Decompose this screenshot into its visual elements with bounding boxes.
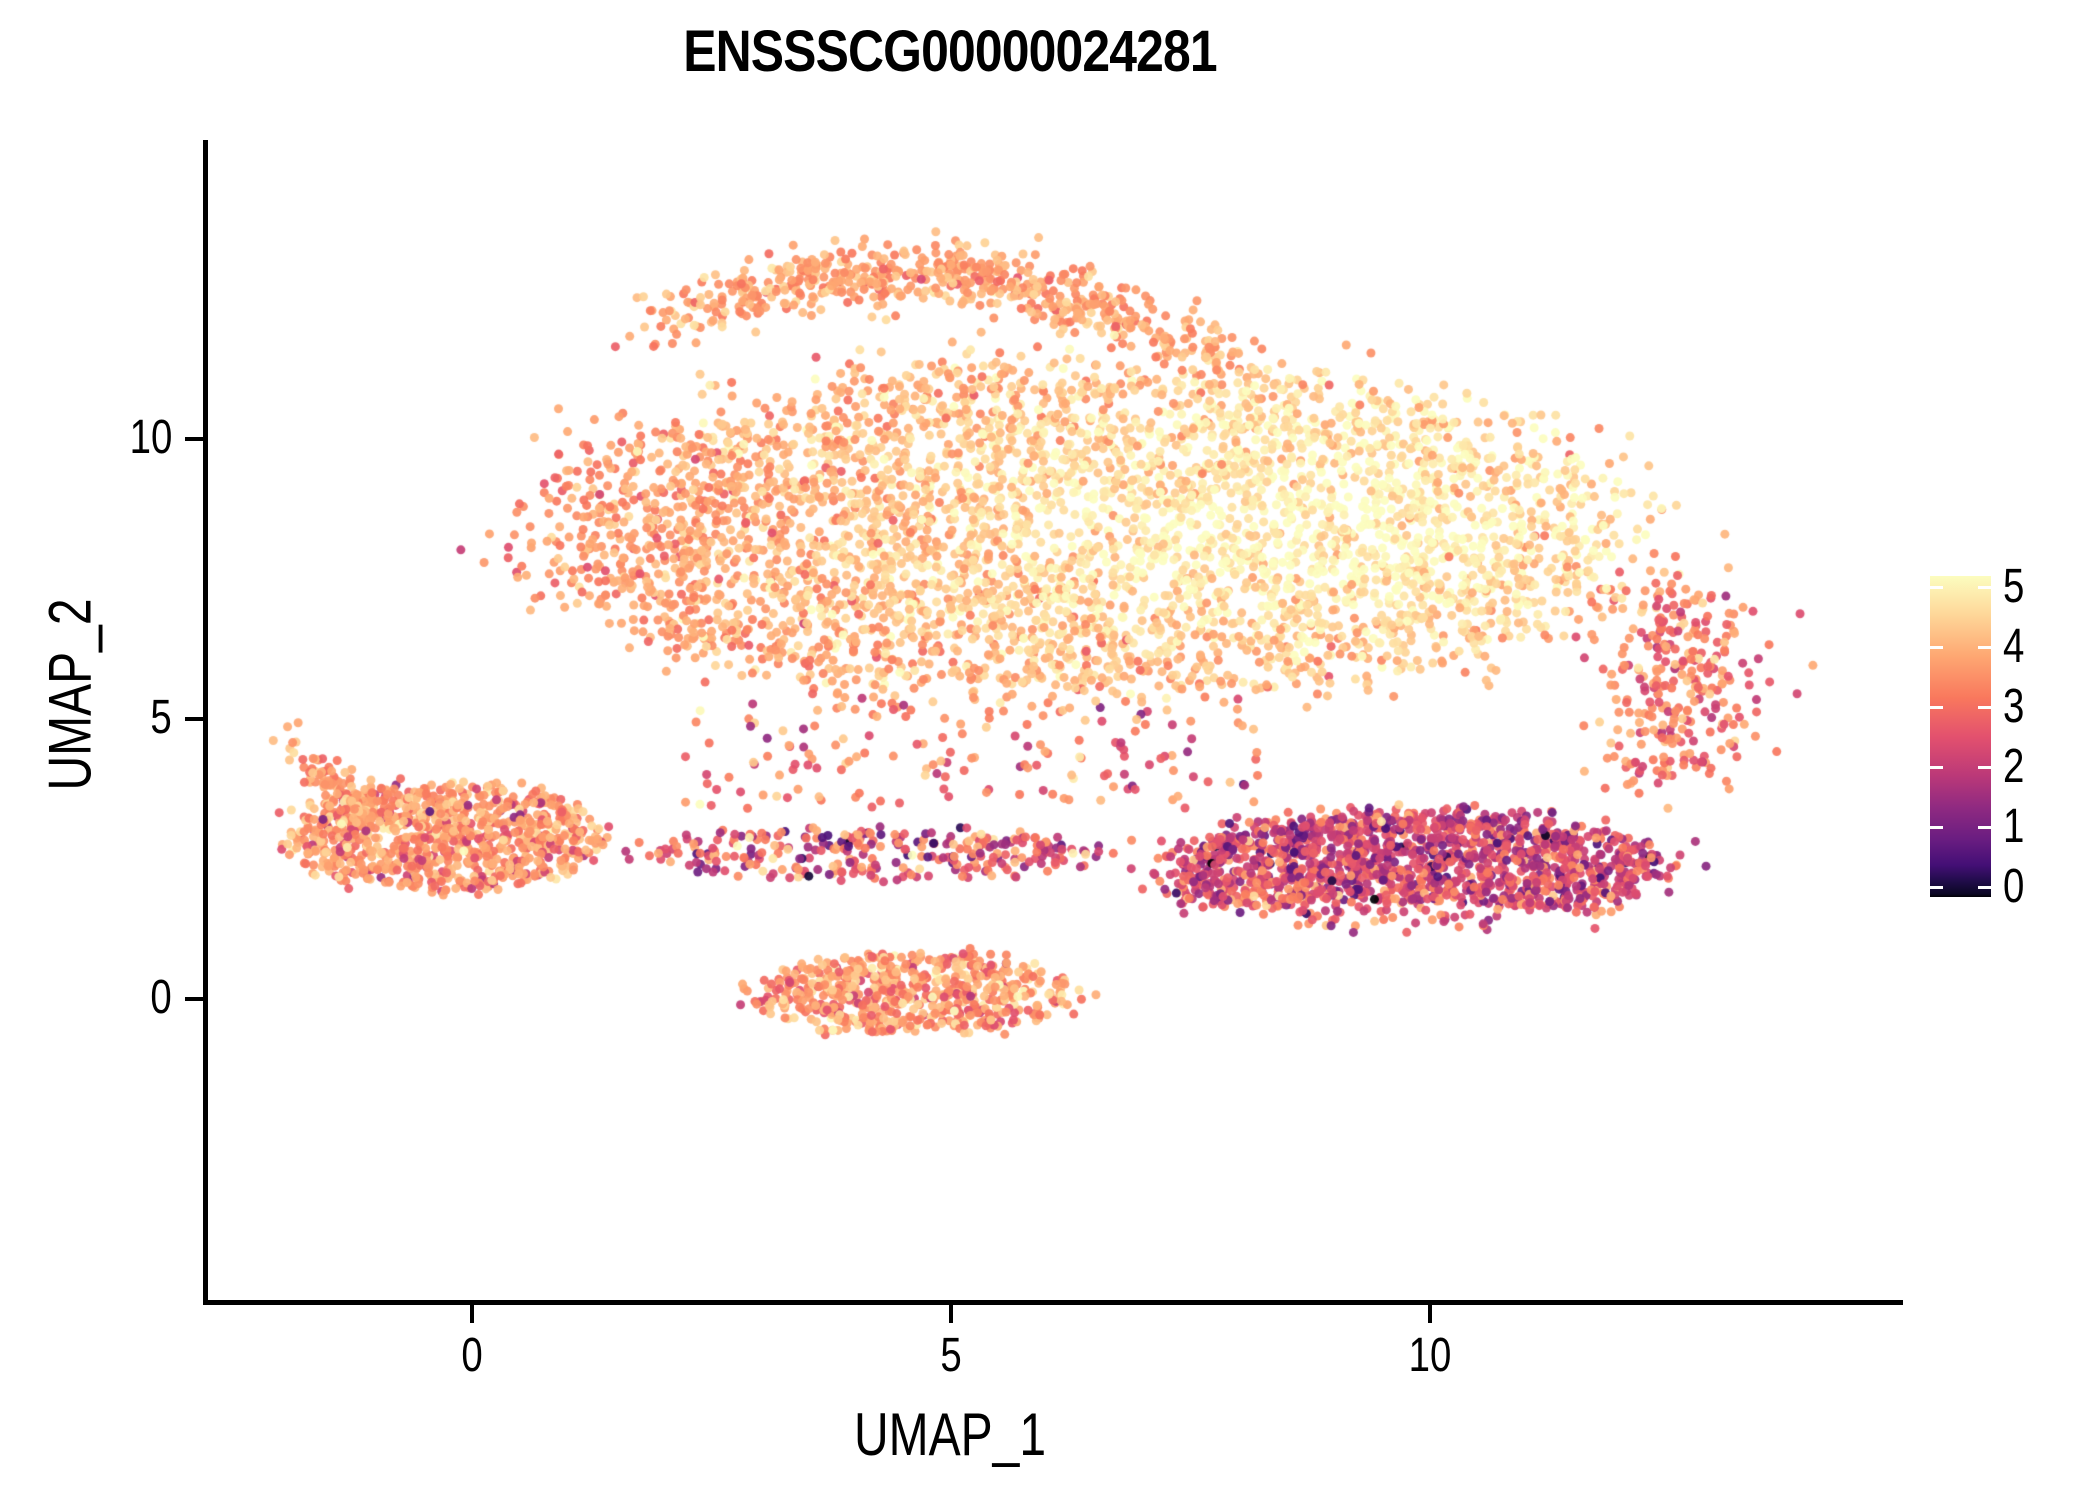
colorbar-tick-5-left <box>1930 586 1943 589</box>
colorbar-label-3: 3 <box>2003 683 2024 731</box>
colorbar-tick-4-right <box>1978 646 1991 649</box>
x-tick-mark-5 <box>949 1305 953 1323</box>
colorbar-label-2: 2 <box>2003 743 2024 791</box>
y-axis-label: UMAP_2 <box>36 375 105 1015</box>
colorbar-tick-2-left <box>1930 766 1943 769</box>
x-tick-label-5: 5 <box>887 1328 1015 1383</box>
colorbar-tick-2-right <box>1978 766 1991 769</box>
scatter-points-layer <box>205 140 1902 1302</box>
colorbar-tick-1-right <box>1978 826 1991 829</box>
colorbar-tick-4-left <box>1930 646 1943 649</box>
colorbar-tick-1-left <box>1930 826 1943 829</box>
y-axis-line <box>203 140 208 1305</box>
colorbar-label-4: 4 <box>2003 623 2024 671</box>
y-tick-mark-5 <box>185 717 203 721</box>
x-tick-label-10: 10 <box>1366 1328 1494 1383</box>
x-tick-label-0: 0 <box>408 1328 536 1383</box>
colorbar-label-0: 0 <box>2003 863 2024 911</box>
x-axis-line <box>203 1300 1903 1305</box>
colorbar-tick-0-right <box>1978 886 1991 889</box>
colorbar-label-5: 5 <box>2003 563 2024 611</box>
x-axis-label: UMAP_1 <box>190 1400 1710 1469</box>
colorbar-tick-3-right <box>1978 706 1991 709</box>
x-tick-mark-10 <box>1428 1305 1432 1323</box>
colorbar-tick-0-left <box>1930 886 1943 889</box>
colorbar-tick-3-left <box>1930 706 1943 709</box>
colorbar-label-1: 1 <box>2003 803 2024 851</box>
page-title: ENSSSCG00000024281 <box>133 18 1767 85</box>
y-tick-mark-0 <box>185 997 203 1001</box>
umap-feature-plot: ENSSSCG00000024281 0 5 10 10 5 0 UMAP_1 … <box>0 0 2100 1500</box>
y-tick-mark-10 <box>185 437 203 441</box>
colorbar-gradient <box>1930 576 1991 897</box>
x-tick-mark-0 <box>470 1305 474 1323</box>
colorbar-tick-5-right <box>1978 586 1991 589</box>
color-legend: 5 4 3 2 1 0 <box>1925 570 2095 910</box>
